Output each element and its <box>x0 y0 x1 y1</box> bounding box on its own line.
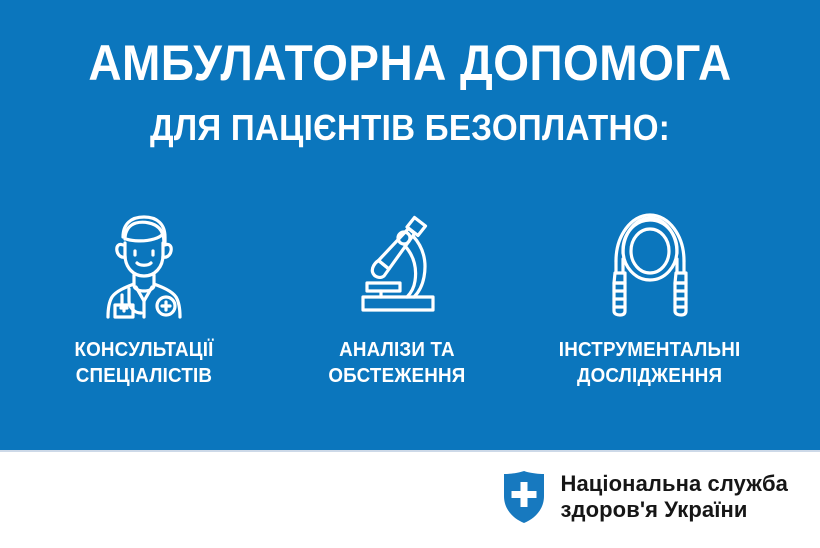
page-subtitle: ДЛЯ ПАЦІЄНТІВ БЕЗОПЛАТНО: <box>33 108 787 148</box>
microscope-icon <box>345 205 449 325</box>
brand-lockup: Національна служба здоров'я України <box>502 470 788 524</box>
footer: Національна служба здоров'я України <box>0 452 820 548</box>
service-item-instrumental: ІНСТРУМЕНТАЛЬНІ ДОСЛІДЖЕННЯ <box>523 205 776 389</box>
coiled-cable-icon <box>598 205 702 325</box>
brand-name: Національна служба здоров'я України <box>560 471 788 523</box>
service-item-consultations: КОНСУЛЬТАЦІЇ СПЕЦІАЛІСТІВ <box>17 205 270 389</box>
services-row: КОНСУЛЬТАЦІЇ СПЕЦІАЛІСТІВ АНАЛІЗИ ТА ОБС… <box>0 205 820 405</box>
shield-cross-icon <box>502 470 546 524</box>
service-label: ІНСТРУМЕНТАЛЬНІ ДОСЛІДЖЕННЯ <box>559 337 741 389</box>
doctor-icon <box>92 205 196 325</box>
service-item-tests: АНАЛІЗИ ТА ОБСТЕЖЕННЯ <box>270 205 523 389</box>
service-label: КОНСУЛЬТАЦІЇ СПЕЦІАЛІСТІВ <box>74 337 213 389</box>
service-label: АНАЛІЗИ ТА ОБСТЕЖЕННЯ <box>328 337 465 389</box>
poster: АМБУЛАТОРНА ДОПОМОГА ДЛЯ ПАЦІЄНТІВ БЕЗОП… <box>0 0 820 548</box>
page-title: АМБУЛАТОРНА ДОПОМОГА <box>33 36 787 90</box>
